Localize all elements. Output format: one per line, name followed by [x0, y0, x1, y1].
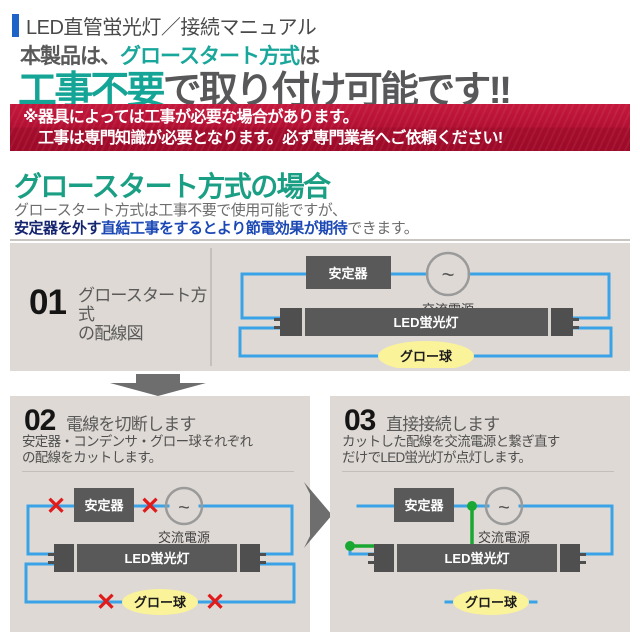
section-subtitle-blue: 直結工事をするとより節電効果が期待 [101, 220, 347, 237]
led-tube-label: LED蛍光灯 [393, 315, 458, 330]
accent-bar-icon [12, 14, 19, 37]
step-desc-02-line2: の配線をカットします。 [22, 450, 161, 465]
ac-source-label: 交流電源 [158, 530, 210, 545]
warning-banner-line1: ※器具によっては工事が必要な場合があります。 [10, 107, 630, 128]
step-title-03: 直接接続します [386, 410, 499, 435]
manual-title-row: LED直管蛍光灯／接続マニュアル [12, 11, 316, 40]
wiring-diagram-01: 安定器 ~ 交流電源 LED蛍光灯 グロー球 [228, 246, 623, 368]
step-description-02: 安定器・コンデンサ・グロー球それぞれ の配線をカットします。 [22, 434, 302, 466]
section-divider [10, 239, 630, 241]
step-title-01: グロースタート方式 の配線図 [78, 286, 208, 343]
step-title-01-line1: グロースタート方式 [78, 286, 207, 324]
step-number-03: 03 [344, 404, 375, 438]
glow-lamp-label: グロー球 [134, 595, 187, 610]
led-tube-label: LED蛍光灯 [124, 551, 189, 566]
section-subtitle-gray: できます。 [347, 220, 418, 237]
ac-symbol-icon: ~ [442, 262, 455, 287]
wiring-diagram-03: 安定器 ~ 交流電源 LED蛍光灯 グロー球 [336, 476, 624, 626]
arrow-right-icon [304, 474, 332, 554]
step-title-01-line2: の配線図 [78, 324, 143, 343]
cut-mark-icon-1: ✕ [46, 493, 66, 520]
wiring-diagram-02: 安定器 ~ 交流電源 LED蛍光灯 グロー球 ✕ ✕ ✕ ✕ [16, 476, 304, 626]
step-desc-03-line2: だけでLED蛍光灯が点灯します。 [342, 450, 531, 465]
ballast-label: 安定器 [328, 266, 368, 281]
step-title-02: 電線を切断します [66, 410, 196, 435]
step-number-02: 02 [24, 404, 55, 438]
bypass-node-icon-1 [467, 501, 477, 511]
panel-01-vertical-divider [210, 248, 212, 366]
step-desc-02-line1: 安定器・コンデンサ・グロー球それぞれ [22, 434, 252, 449]
page-title: LED直管蛍光灯／接続マニュアル [26, 11, 316, 40]
panel-02-separator [22, 471, 294, 472]
section-subtitle-navy: 安定器を外す [14, 220, 101, 237]
cut-mark-icon-4: ✕ [205, 589, 225, 616]
ac-symbol-icon: ~ [178, 497, 190, 519]
step-desc-03-line1: カットした配線を交流電源と繋ぎ直す [342, 434, 560, 449]
glow-lamp-label: グロー球 [465, 595, 518, 610]
arrow-down-icon [110, 374, 206, 396]
glow-lamp-label: グロー球 [400, 349, 453, 364]
bypass-node-icon-2 [345, 541, 355, 551]
warning-banner-line2: 工事は専門知識が必要となります。必ず専門業者へご依頼ください! [10, 128, 630, 149]
warning-banner: ※器具によっては工事が必要な場合があります。 工事は専門知識が必要となります。必… [10, 104, 630, 151]
step-number-01: 01 [29, 283, 66, 323]
step-description-03: カットした配線を交流電源と繋ぎ直す だけでLED蛍光灯が点灯します。 [342, 434, 627, 466]
cut-mark-icon-2: ✕ [140, 493, 160, 520]
infographic-page: LED直管蛍光灯／接続マニュアル 本製品は、グロースタート方式は 工事不要で取り… [0, 0, 640, 640]
cut-mark-icon-3: ✕ [96, 589, 116, 616]
panel-03-separator [342, 471, 614, 472]
ac-symbol-icon: ~ [498, 497, 510, 519]
ac-source-label: 交流電源 [478, 530, 530, 545]
led-tube-label: LED蛍光灯 [444, 551, 509, 566]
ballast-label: 安定器 [84, 498, 124, 513]
ballast-label: 安定器 [404, 498, 444, 513]
section-subtitle-line2: 安定器を外す直結工事をするとより節電効果が期待できます。 [14, 217, 418, 238]
